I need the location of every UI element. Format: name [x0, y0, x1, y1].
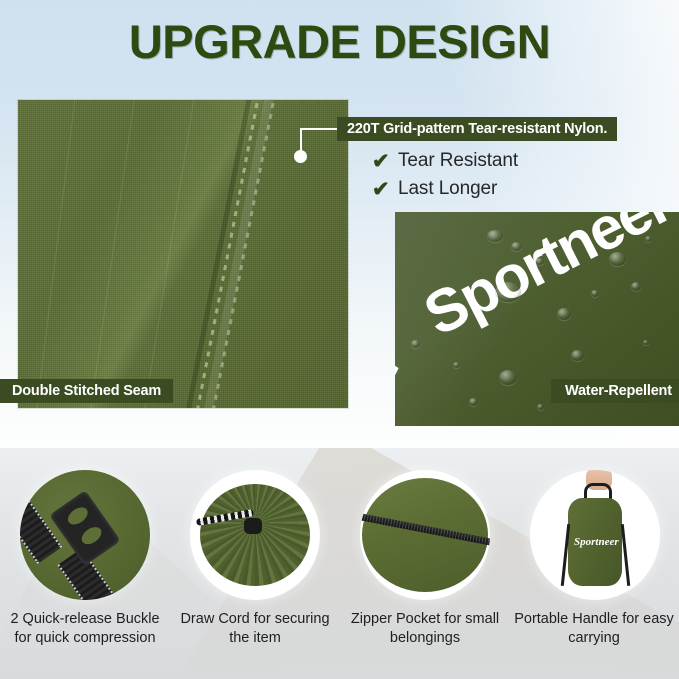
- compression-strap: [621, 524, 630, 586]
- page-title: UPGRADE DESIGN: [0, 18, 679, 65]
- water-droplet: [499, 370, 517, 385]
- quick-release-buckle: [49, 490, 121, 566]
- checklist-item: ✔ Last Longer: [372, 176, 518, 202]
- caption-buckle: 2 Quick-release Buckle for quick compres…: [0, 610, 170, 648]
- checklist-item-label: Last Longer: [398, 178, 497, 200]
- water-droplet: [469, 398, 478, 406]
- water-droplet: [453, 362, 460, 368]
- buckle-slot: [79, 524, 105, 548]
- water-droplet: [643, 340, 649, 345]
- caption-drawcord: Draw Cord for securing the item: [170, 610, 340, 648]
- leader-line-vertical: [300, 128, 302, 156]
- water-droplet: [631, 282, 641, 291]
- water-droplet: [411, 340, 420, 348]
- water-droplet: [495, 282, 521, 302]
- checklist-item-label: Tear Resistant: [398, 150, 518, 172]
- water-repellent-badge: Water-Repellent: [551, 379, 679, 403]
- zipper-photo: [360, 470, 490, 600]
- fabric-texture: [18, 100, 348, 408]
- water-droplet: [609, 252, 626, 266]
- check-icon: ✔: [372, 151, 398, 172]
- buckle-photo: [20, 470, 150, 600]
- double-stitched-seam-badge: Double Stitched Seam: [0, 379, 173, 403]
- water-droplet: [557, 308, 571, 320]
- caption-zipper: Zipper Pocket for small belongings: [340, 610, 510, 648]
- water-droplet: [591, 290, 599, 297]
- infographic-page: UPGRADE DESIGN 220T Grid-pattern Tear-re…: [0, 0, 679, 679]
- cinched-fabric: [200, 484, 310, 586]
- buckle-slot: [65, 504, 91, 528]
- water-droplet: [537, 404, 544, 410]
- checklist-item: ✔ Tear Resistant: [372, 148, 518, 174]
- caption-handle: Portable Handle for easy carrying: [509, 610, 679, 648]
- check-icon: ✔: [372, 179, 398, 200]
- sack-logo: Sportneer: [574, 536, 616, 548]
- water-droplet: [645, 236, 652, 242]
- callout-badge: 220T Grid-pattern Tear-resistant Nylon.: [337, 117, 617, 141]
- cord-lock: [244, 518, 262, 534]
- water-droplet: [487, 230, 503, 242]
- water-droplet: [535, 258, 544, 265]
- fabric-seam-photo: [18, 100, 348, 408]
- water-droplet: [511, 242, 522, 251]
- feature-checklist: ✔ Tear Resistant ✔ Last Longer: [372, 148, 518, 204]
- handle-photo: Sportneer: [530, 470, 660, 600]
- leader-line-horizontal: [300, 128, 340, 130]
- water-droplet: [571, 350, 584, 361]
- drawcord-photo: [190, 470, 320, 600]
